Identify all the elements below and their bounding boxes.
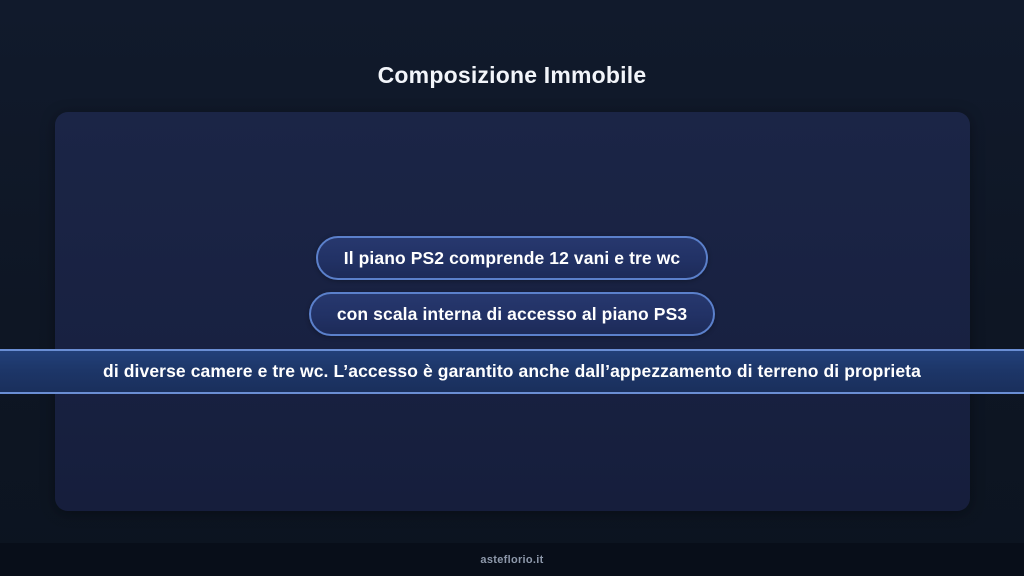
- composition-chip-1[interactable]: Il piano PS2 comprende 12 vani e tre wc: [316, 236, 709, 280]
- highlight-banner[interactable]: di diverse camere e tre wc. L’accesso è …: [0, 349, 1024, 394]
- slide-screen: Composizione Immobile Il piano PS2 compr…: [0, 0, 1024, 576]
- chip-row-second: con scala interna di accesso al piano PS…: [0, 292, 1024, 336]
- footer-site-label: asteflorio.it: [480, 554, 543, 566]
- composition-chip-2[interactable]: con scala interna di accesso al piano PS…: [309, 292, 715, 336]
- footer-bar: asteflorio.it: [0, 543, 1024, 576]
- page-title: Composizione Immobile: [0, 60, 1024, 90]
- highlight-banner-text: di diverse camere e tre wc. L’accesso è …: [103, 361, 921, 382]
- chip-row-first: Il piano PS2 comprende 12 vani e tre wc: [0, 236, 1024, 280]
